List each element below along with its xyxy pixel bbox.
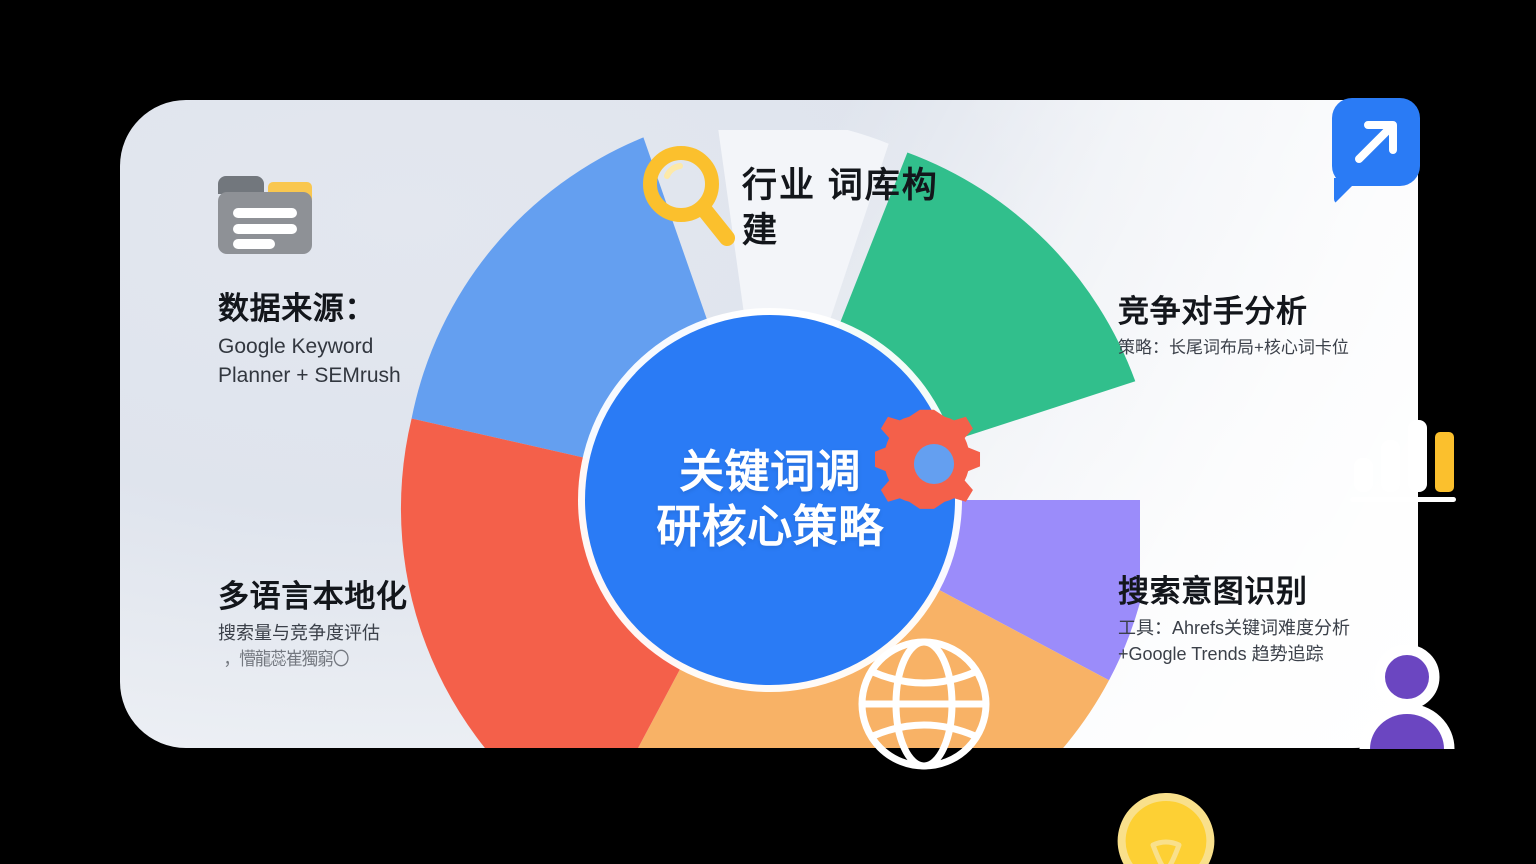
label-search-intent-title: 搜索意图识别 xyxy=(1118,573,1418,610)
label-competitor-title: 竞争对手分析 xyxy=(1118,293,1418,330)
label-multilingual-title: 多语言本地化 xyxy=(218,578,458,615)
label-multilingual-subtitle: 搜索量与竞争度评估，懵龍蕊崔獨窮〇 xyxy=(218,621,458,672)
globe-icon xyxy=(855,635,993,778)
label-multilingual-subtitle-garbled: ，懵龍蕊崔獨窮〇 xyxy=(223,647,348,673)
center-hub-label: 关键词调 研核心策略 xyxy=(640,445,900,555)
label-industry-lexicon: 行业 词库构建 xyxy=(742,164,962,254)
share-badge[interactable] xyxy=(1332,98,1420,186)
label-multilingual-subtitle-text: 搜索量与竞争度评估 xyxy=(218,623,380,643)
center-hub-line2: 研核心策略 xyxy=(640,500,900,555)
arrow-up-right-icon xyxy=(1352,118,1400,166)
label-data-source-title: 数据来源： xyxy=(218,290,448,327)
gear-icon xyxy=(875,405,993,528)
label-industry-lexicon-title: 行业 词库构建 xyxy=(742,164,962,254)
label-multilingual: 多语言本地化 搜索量与竞争度评估，懵龍蕊崔獨窮〇 xyxy=(218,578,458,672)
folder-document-icon xyxy=(216,168,314,261)
label-search-intent-subtitle: 工具：Ahrefs关键词难度分析+Google Trends 趋势追踪 xyxy=(1118,616,1418,667)
bar-chart-icon xyxy=(1348,412,1458,509)
search-magnifier-icon xyxy=(637,142,737,255)
lightbulb-icon xyxy=(1110,793,1222,864)
label-search-intent: 搜索意图识别 工具：Ahrefs关键词难度分析+Google Trends 趋势… xyxy=(1118,573,1418,667)
slide-canvas: 关键词调 研核心策略 xyxy=(0,0,1536,864)
center-hub-line1: 关键词调 xyxy=(640,445,900,500)
label-competitor: 竞争对手分析 策略：长尾词布局+核心词卡位 xyxy=(1118,293,1418,360)
label-data-source-subtitle: Google Keyword Planner + SEMrush xyxy=(218,333,448,390)
label-competitor-subtitle: 策略：长尾词布局+核心词卡位 xyxy=(1118,336,1418,360)
label-data-source: 数据来源： Google Keyword Planner + SEMrush xyxy=(218,290,448,390)
